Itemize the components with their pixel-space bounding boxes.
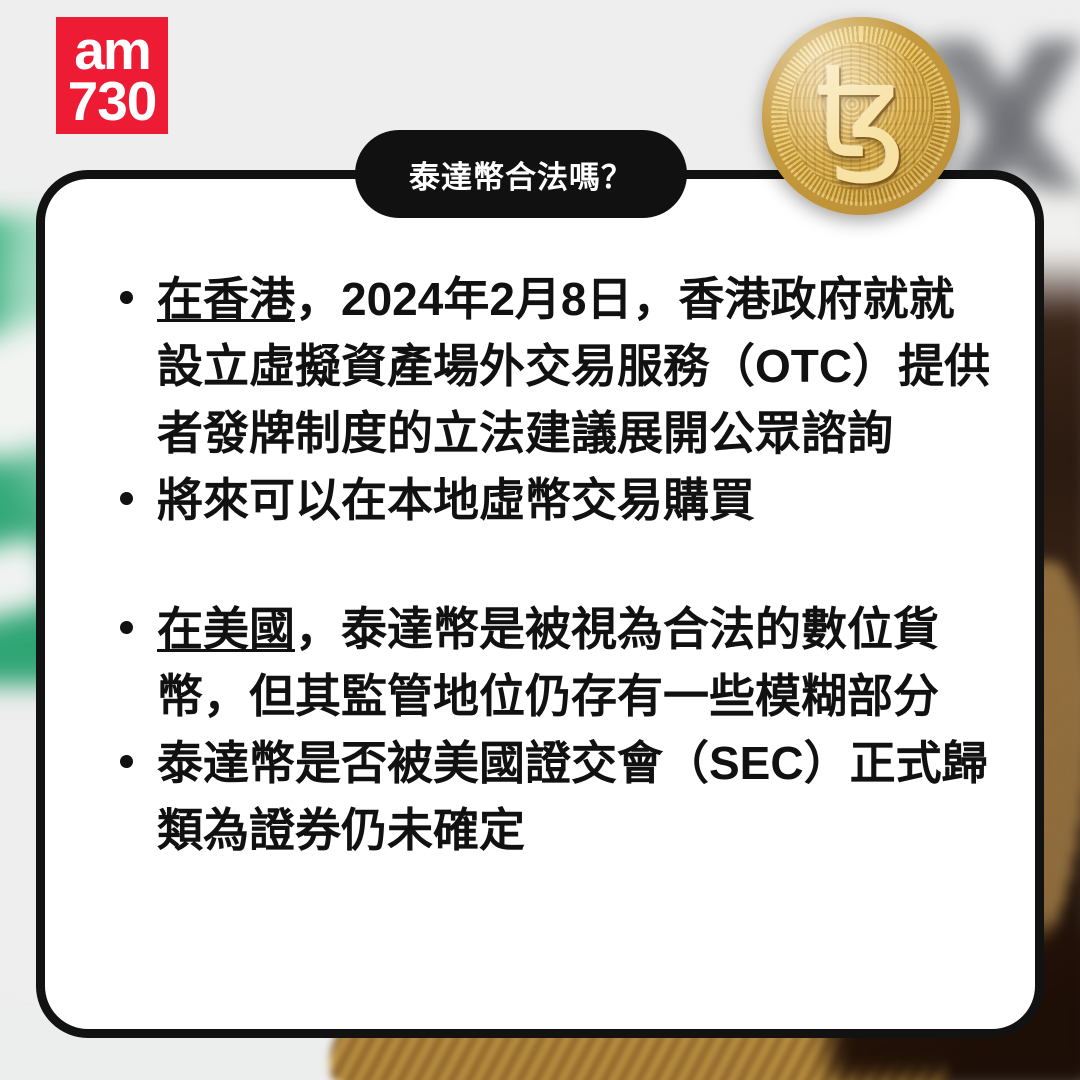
title-pill: 泰達幣合法嗎？ [355,130,687,218]
tezos-coin-image: ꜩ [762,17,960,215]
list-item: 將來可以在本地虛幣交易購買 [120,467,992,534]
bullet-dot-icon [120,492,133,505]
list-item-text: 在美國，泰達幣是被視為合法的數位貨幣，但其監管地位仍存有一些模糊部分 [157,596,992,730]
logo-text-730: 730 [68,76,157,127]
infographic-card-page: am 730 ꜩ 泰達幣合法嗎？ 在香港，2024年2月8日，香港政府就就設立虛… [0,0,1080,1080]
list-item-underlined-lead: 在香港 [157,273,295,325]
page-title: 泰達幣合法嗎？ [409,152,633,197]
bullet-group-usa: 在美國，泰達幣是被視為合法的數位貨幣，但其監管地位仍存有一些模糊部分 泰達幣是否… [120,596,992,864]
list-item-text: 將來可以在本地虛幣交易購買 [157,467,992,534]
bullet-content: 在香港，2024年2月8日，香港政府就就設立虛擬資產場外交易服務（OTC）提供者… [36,170,1044,1038]
bullet-dot-icon [120,621,133,634]
bullet-group-hongkong: 在香港，2024年2月8日，香港政府就就設立虛擬資產場外交易服務（OTC）提供者… [120,266,992,534]
logo-text-am: am [74,25,150,76]
list-item-body: 泰達幣是否被美國證交會（SEC）正式歸類為證券仍未確定 [157,737,988,856]
bullet-dot-icon [120,755,133,768]
list-item: 在香港，2024年2月8日，香港政府就就設立虛擬資產場外交易服務（OTC）提供者… [120,266,992,467]
list-item-text: 泰達幣是否被美國證交會（SEC）正式歸類為證券仍未確定 [157,730,992,864]
coin-highlight [762,17,960,215]
am730-logo[interactable]: am 730 [56,17,168,134]
list-item: 在美國，泰達幣是被視為合法的數位貨幣，但其監管地位仍存有一些模糊部分 [120,596,992,730]
bullet-dot-icon [120,291,133,304]
list-item-text: 在香港，2024年2月8日，香港政府就就設立虛擬資產場外交易服務（OTC）提供者… [157,266,992,467]
list-item-body: 將來可以在本地虛幣交易購買 [157,474,755,526]
group-spacer [120,534,992,596]
list-item-underlined-lead: 在美國 [157,603,295,655]
list-item: 泰達幣是否被美國證交會（SEC）正式歸類為證券仍未確定 [120,730,992,864]
